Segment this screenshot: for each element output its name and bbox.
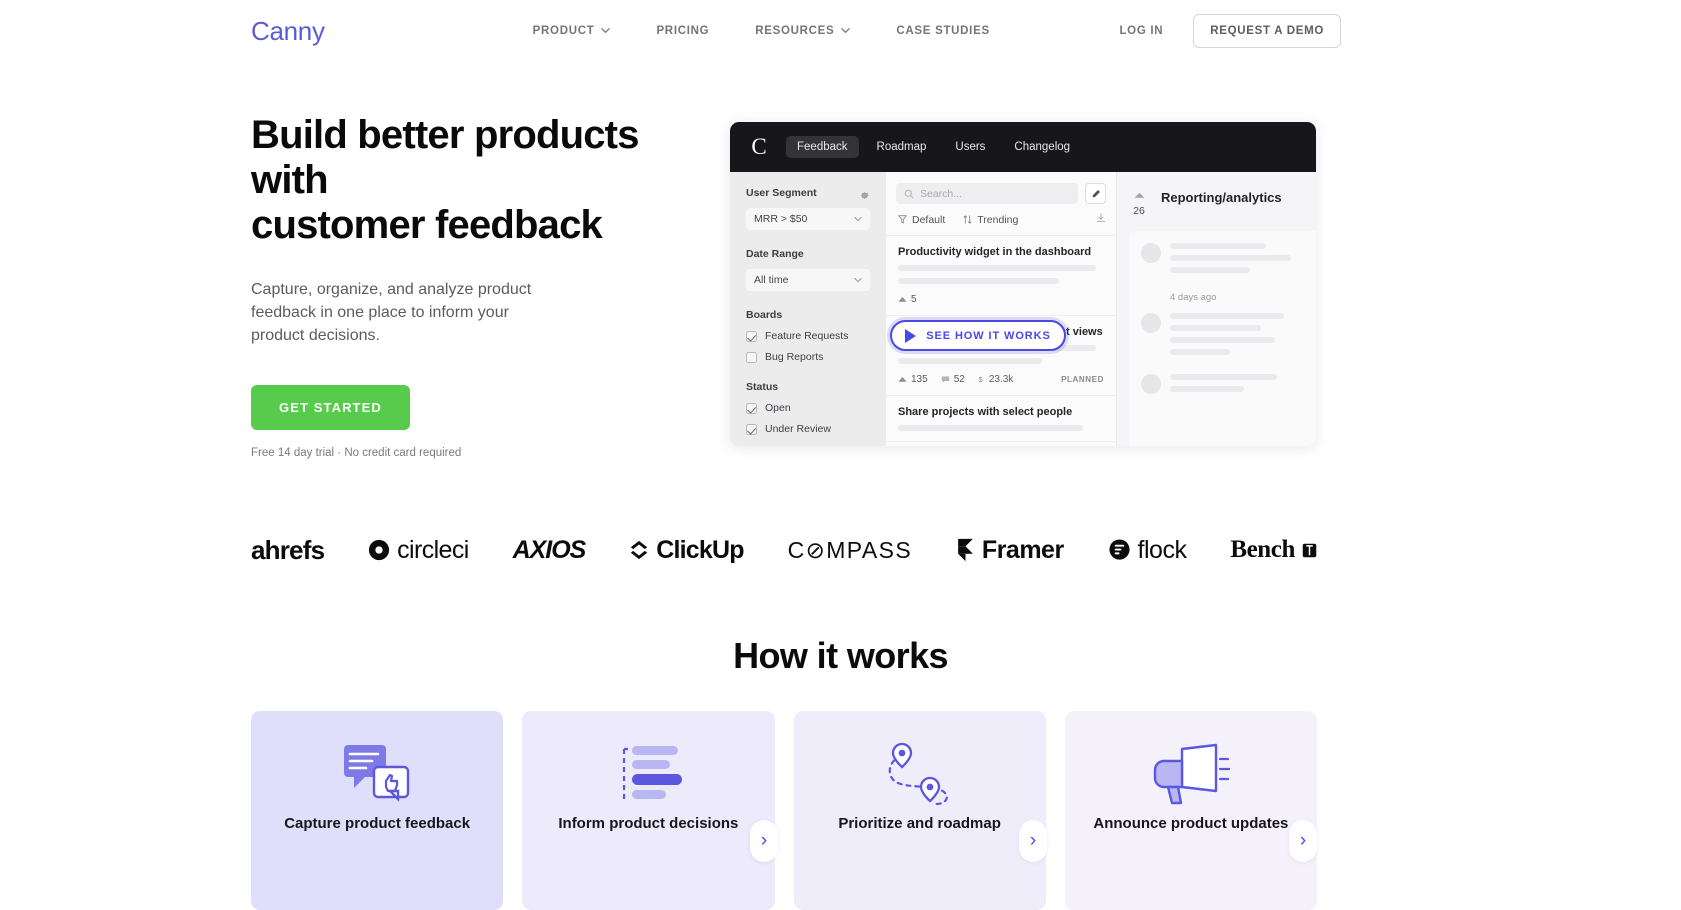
gear-icon[interactable] (859, 188, 870, 199)
post-comments-count: 52 (954, 374, 965, 385)
status-under-review[interactable]: Under Review (746, 423, 870, 435)
filter-trending-label: Trending (977, 214, 1018, 226)
app-topbar: C Feedback Roadmap Users Changelog (730, 122, 1316, 172)
placeholder-line (1170, 374, 1277, 380)
search-placeholder: Search... (920, 188, 962, 200)
status-label: Status (746, 381, 870, 393)
app-filters-sidebar: User Segment MRR > $50 Date Range All ti… (730, 172, 886, 446)
post-value-amount: 23.3k (989, 374, 1013, 385)
avatar (1141, 313, 1161, 333)
how-it-works-cards: Capture product feedback Inform product … (251, 711, 1317, 910)
app-body: User Segment MRR > $50 Date Range All ti… (730, 172, 1316, 446)
logo-framer: Framer (956, 536, 1064, 565)
funnel-icon (898, 215, 907, 224)
date-range-label: Date Range (746, 248, 870, 260)
placeholder-line (1170, 255, 1291, 261)
megaphone-icon (1152, 741, 1230, 807)
logo-circleci: circleci (368, 536, 469, 565)
svg-text:$: $ (978, 375, 983, 384)
placeholder-line (1170, 313, 1284, 319)
detail-comments-card: 4 days ago (1129, 231, 1316, 446)
app-tab-roadmap[interactable]: Roadmap (866, 136, 938, 158)
detail-votes-count: 26 (1129, 205, 1149, 217)
comment-item (1141, 243, 1304, 279)
top-navigation-bar: Canny PRODUCT PRICING RESOURCES (0, 0, 1681, 62)
pencil-icon[interactable] (1085, 183, 1106, 204)
filter-trending[interactable]: Trending (963, 214, 1018, 226)
post-item[interactable]: Share projects with select people (886, 396, 1116, 442)
checkbox-icon[interactable] (746, 352, 757, 363)
placeholder-line (1170, 349, 1230, 355)
post-votes: 5 (898, 294, 917, 305)
sort-icon (963, 215, 972, 224)
app-tab-feedback[interactable]: Feedback (786, 136, 859, 158)
placeholder-line (1170, 386, 1244, 392)
board-bug-reports-label: Bug Reports (765, 351, 823, 363)
chevron-down-icon (601, 26, 610, 35)
board-feature-requests[interactable]: Feature Requests (746, 330, 870, 342)
comment-item (1141, 313, 1304, 361)
user-segment-select[interactable]: MRR > $50 (746, 208, 870, 230)
dollar-icon: $ (978, 375, 985, 384)
user-segment-value: MRR > $50 (754, 213, 807, 225)
see-how-it-works-button[interactable]: SEE HOW IT WORKS (890, 320, 1066, 351)
placeholder-line (1170, 267, 1250, 273)
placeholder-line (898, 358, 1042, 364)
placeholder-line (1170, 243, 1266, 249)
logo-clickup: ClickUp (629, 536, 743, 565)
flock-icon (1108, 539, 1131, 562)
checkbox-icon[interactable] (746, 331, 757, 342)
logo-clickup-label: ClickUp (656, 536, 743, 565)
status-under-review-label: Under Review (765, 423, 831, 435)
carousel-next-arrow-1[interactable]: › (750, 820, 778, 862)
placeholder-line (898, 425, 1083, 431)
chevron-down-icon (854, 215, 862, 223)
board-bug-reports[interactable]: Bug Reports (746, 351, 870, 363)
upvote-icon (898, 376, 907, 383)
detail-title: Reporting/analytics (1161, 190, 1282, 205)
comment-icon (941, 375, 950, 384)
card-capture-label: Capture product feedback (284, 815, 470, 832)
nav-item-product-label: PRODUCT (533, 25, 595, 37)
nav-item-resources[interactable]: RESOURCES (755, 25, 850, 37)
product-screenshot: C Feedback Roadmap Users Changelog User … (730, 122, 1316, 446)
app-logo-icon: C (746, 134, 772, 160)
get-started-button[interactable]: GET STARTED (251, 385, 410, 430)
post-item[interactable]: Productivity widget in the dashboard 5 (886, 236, 1116, 316)
chat-bubble-thumbsup-icon (342, 741, 412, 807)
page-title: Build better products with customer feed… (251, 113, 681, 248)
placeholder-line (1170, 325, 1261, 331)
chevron-down-icon (841, 26, 850, 35)
logo-bench-label: Bench (1230, 536, 1295, 564)
comment-item (1141, 374, 1304, 398)
nav-item-pricing-label: PRICING (656, 25, 709, 37)
avatar (1141, 374, 1161, 394)
checkbox-icon[interactable] (746, 424, 757, 435)
carousel-next-arrow-2[interactable]: › (1019, 820, 1047, 862)
play-icon (905, 329, 916, 343)
card-inform-label: Inform product decisions (558, 815, 738, 832)
logo-compass: C⊘MPASS (788, 537, 913, 564)
placeholder-line (898, 278, 1059, 284)
login-link[interactable]: LOG IN (1119, 25, 1163, 37)
hero-title-line-1: Build better products (251, 113, 639, 157)
app-post-list: Search... Default Trending (886, 172, 1117, 446)
card-prioritize-label: Prioritize and roadmap (838, 815, 1001, 832)
download-icon[interactable] (1096, 213, 1106, 226)
carousel-next-arrow-3[interactable]: › (1289, 820, 1317, 862)
nav-item-case-studies[interactable]: CASE STUDIES (896, 25, 989, 37)
date-range-value: All time (754, 274, 788, 286)
customer-logos-strip: ahrefs circleci AXIOS ClickUp C⊘MPASS Fr… (251, 520, 1317, 580)
checkbox-icon[interactable] (746, 403, 757, 414)
logo-axios: AXIOS (513, 536, 586, 565)
filter-default-label: Default (912, 214, 945, 226)
date-range-select[interactable]: All time (746, 269, 870, 291)
search-icon (904, 189, 914, 199)
page-root: Canny PRODUCT PRICING RESOURCES (0, 0, 1681, 910)
upvote-icon (1134, 192, 1145, 199)
post-votes-count: 5 (911, 294, 917, 305)
search-input[interactable]: Search... (896, 183, 1078, 204)
hero-subtitle: Capture, organize, and analyze product f… (251, 278, 561, 347)
logo-framer-label: Framer (982, 536, 1064, 565)
user-segment-label: User Segment (746, 187, 817, 199)
status-open-label: Open (765, 402, 791, 414)
hero-title-line-3: customer feedback (251, 203, 602, 247)
post-title: Productivity widget in the dashboard (898, 246, 1104, 258)
clickup-icon (629, 539, 649, 561)
detail-votes[interactable]: 26 (1129, 186, 1149, 217)
circleci-icon (368, 539, 390, 561)
map-pin-route-icon (880, 741, 960, 807)
upvote-icon (898, 296, 907, 303)
bench-mark-icon (1302, 543, 1317, 558)
status-badge: PLANNED (1061, 375, 1104, 384)
card-prioritize-and-roadmap[interactable]: Prioritize and roadmap (794, 711, 1046, 910)
logo-flock-label: flock (1138, 536, 1187, 565)
see-how-it-works-label: SEE HOW IT WORKS (926, 330, 1050, 342)
app-tab-changelog[interactable]: Changelog (1003, 136, 1081, 158)
app-tab-users[interactable]: Users (944, 136, 996, 158)
nav-links: PRODUCT PRICING RESOURCES CASE STUDIES (533, 25, 990, 37)
logo-flock: flock (1108, 536, 1187, 565)
how-it-works-title: How it works (0, 635, 1681, 677)
app-post-detail: 26 Reporting/analytics 4 days ago (1117, 172, 1316, 446)
hero-title-line-2: with (251, 158, 328, 202)
logo-circleci-label: circleci (397, 536, 469, 565)
placeholder-line (1170, 337, 1275, 343)
post-value: $ 23.3k (978, 374, 1013, 385)
filter-default[interactable]: Default (898, 214, 945, 226)
chevron-down-icon (854, 276, 862, 284)
boards-label: Boards (746, 309, 870, 321)
placeholder-line (898, 265, 1096, 271)
nav-item-pricing[interactable]: PRICING (656, 25, 709, 37)
canny-logo[interactable]: Canny (251, 16, 325, 47)
framer-icon (956, 538, 975, 562)
post-comments: 52 (941, 374, 965, 385)
list-bars-icon (610, 741, 686, 807)
request-demo-button[interactable]: REQUEST A DEMO (1193, 14, 1341, 48)
card-announce-product-updates[interactable]: Announce product updates (1065, 711, 1317, 910)
nav-item-case-studies-label: CASE STUDIES (896, 25, 989, 37)
status-open[interactable]: Open (746, 402, 870, 414)
nav-right-actions: LOG IN REQUEST A DEMO (1119, 14, 1341, 48)
nav-item-product[interactable]: PRODUCT (533, 25, 611, 37)
post-votes-count: 135 (911, 374, 928, 385)
comment-timestamp: 4 days ago (1170, 292, 1304, 303)
trial-note: Free 14 day trial · No credit card requi… (251, 447, 681, 459)
post-votes: 135 (898, 374, 928, 385)
hero-text-block: Build better products with customer feed… (251, 113, 681, 459)
board-feature-requests-label: Feature Requests (765, 330, 848, 342)
card-announce-label: Announce product updates (1093, 815, 1288, 832)
card-capture-product-feedback[interactable]: Capture product feedback (251, 711, 503, 910)
card-inform-product-decisions[interactable]: Inform product decisions (522, 711, 774, 910)
logo-bench: Bench (1230, 536, 1317, 564)
logo-ahrefs: ahrefs (251, 535, 324, 566)
avatar (1141, 243, 1161, 263)
nav-item-resources-label: RESOURCES (755, 25, 834, 37)
post-title: Share projects with select people (898, 406, 1104, 418)
